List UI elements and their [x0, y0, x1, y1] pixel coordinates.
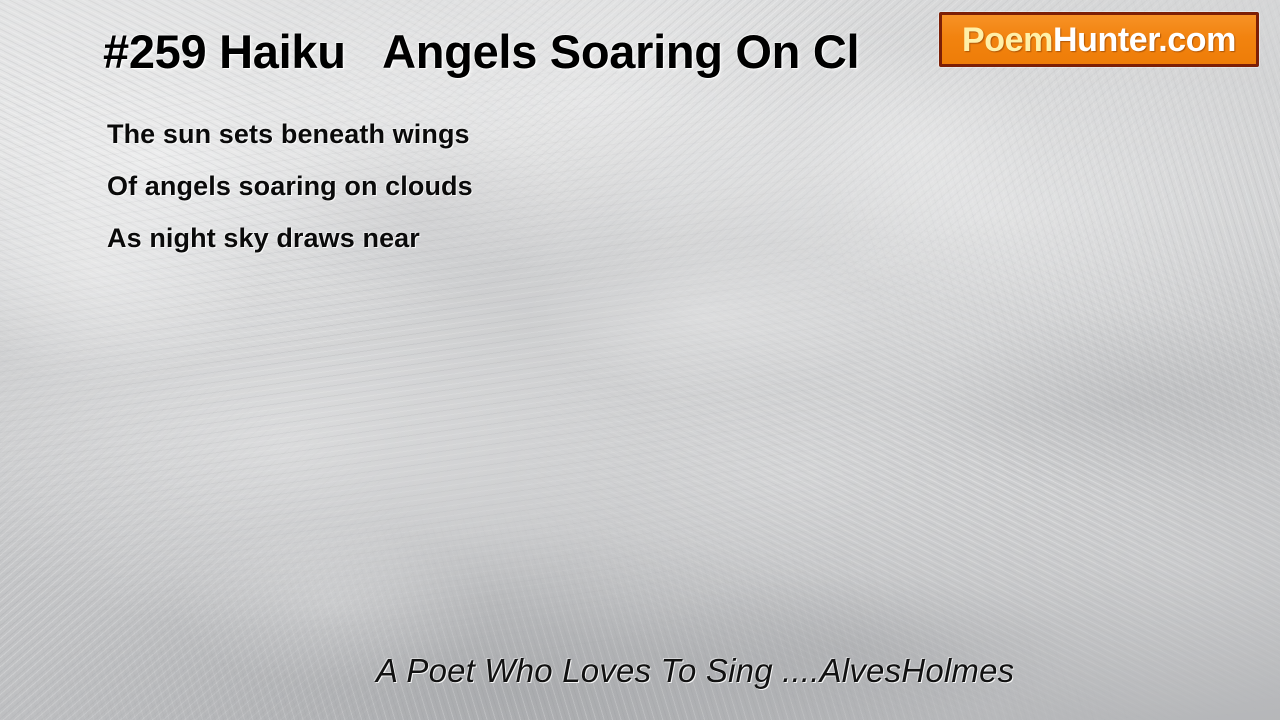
video-frame: #259 Haiku Angels Soaring On Cl The sun …: [0, 0, 1280, 720]
poet-credit-caption: A Poet Who Loves To Sing ....AlvesHolmes: [376, 652, 1014, 690]
poem-line: As night sky draws near: [107, 212, 473, 264]
poemhunter-logo-badge[interactable]: PoemHunter.com: [939, 12, 1259, 67]
poem-title: #259 Haiku Angels Soaring On Cl: [103, 24, 859, 79]
poem-line: Of angels soaring on clouds: [107, 160, 473, 212]
logo-text: PoemHunter.com: [962, 23, 1236, 57]
logo-text-poem: Poem: [962, 21, 1053, 59]
logo-text-hunter: Hunter.com: [1053, 21, 1236, 59]
poem-body: The sun sets beneath wings Of angels soa…: [107, 108, 473, 264]
poem-line: The sun sets beneath wings: [107, 108, 473, 160]
